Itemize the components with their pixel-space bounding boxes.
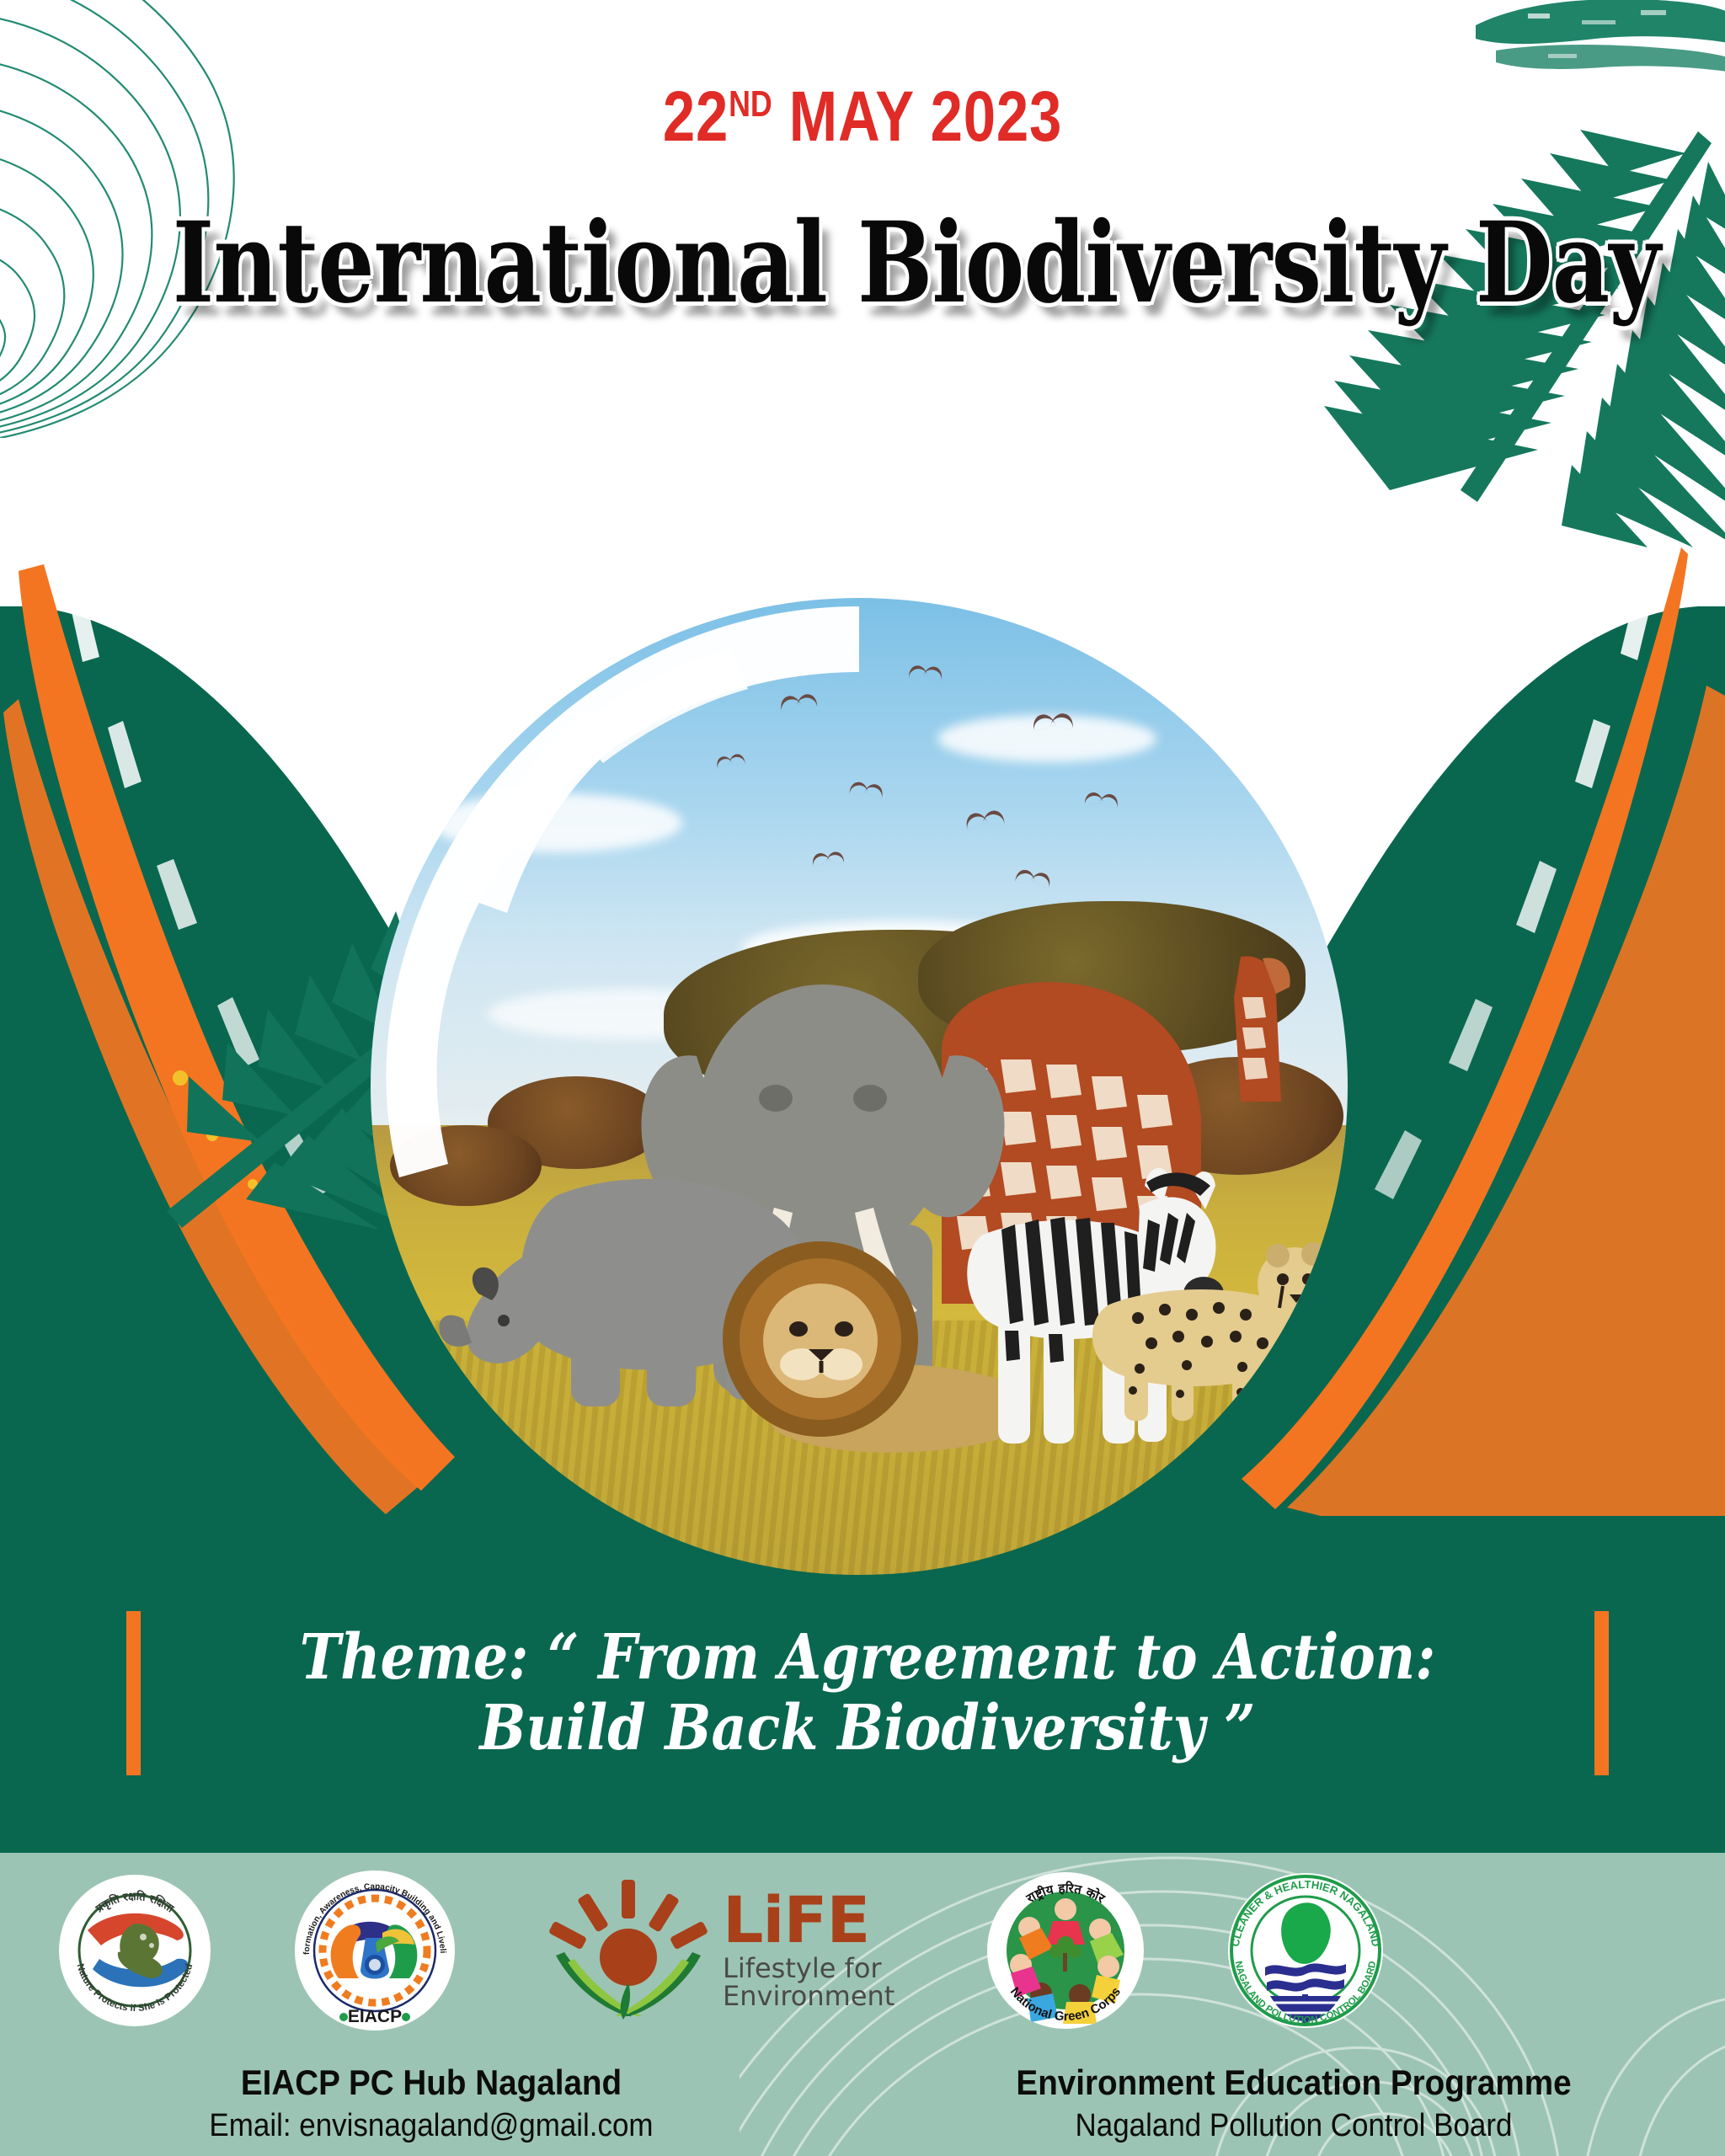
fern-leaf-decoration xyxy=(1312,109,1725,547)
date-month-year: MAY 2023 xyxy=(789,77,1062,156)
cheetah xyxy=(1084,1203,1348,1422)
life-emblem xyxy=(547,1875,708,2026)
page-title: International Biodiversity Day xyxy=(173,198,1552,328)
date-day: 22 xyxy=(663,77,729,156)
green-brush-stroke-decoration xyxy=(1447,0,1725,88)
eiacp-bottom-text: EIACP xyxy=(348,2007,402,2026)
life-sub-line-2: Environment xyxy=(723,1983,895,2011)
theme-banner: Theme: “ From Agreement to Action: Build… xyxy=(126,1596,1609,1790)
logo-moefcc: प्रकृति रक्षति रक्षिता Nature Protects i… xyxy=(59,1875,211,2026)
theme-line-2: Build Back Biodiversity ” xyxy=(228,1693,1508,1764)
footer-left-line-1: EIACP PC Hub Nagaland xyxy=(35,2063,828,2103)
footer-band: प्रकृति रक्षति रक्षिता Nature Protects i… xyxy=(0,1853,1725,2156)
logo-eiacp: Environmental Information, Awareness, Ca… xyxy=(295,1870,455,2031)
theme-text: Theme: “ From Agreement to Action: Build… xyxy=(228,1622,1508,1764)
wildlife-photo-image xyxy=(371,598,1348,1575)
date-ordinal: ND xyxy=(729,83,772,125)
logo-life: LiFE Lifestyle for Environment xyxy=(547,1875,895,2026)
logo-national-green-corps: राष्ट्रीय हरित कोर National Green Corps xyxy=(987,1872,1144,2029)
event-date: 22ND MAY 2023 xyxy=(155,76,1569,157)
theme-bar-left xyxy=(126,1611,141,1775)
life-wordmark: LiFE xyxy=(723,1890,895,1951)
footer-right-block: Environment Education Programme Nagaland… xyxy=(862,2063,1725,2144)
wildlife-photo xyxy=(371,598,1348,1575)
poster-canvas: 22ND MAY 2023 International Biodiversity… xyxy=(0,0,1725,2156)
bird-icon xyxy=(908,665,944,678)
footer-left-line-2: Email: envisnagaland@gmail.com xyxy=(35,2108,828,2144)
logo-npcb: CLEANER & HEALTHIER NAGALAND NAGALAND PO… xyxy=(1228,1873,1383,2028)
theme-line-1: Theme: “ From Agreement to Action: xyxy=(228,1622,1508,1693)
footer-right-line-2: Nagaland Pollution Control Board xyxy=(897,2108,1690,2144)
life-sub-line-1: Lifestyle for xyxy=(723,1955,895,1983)
footer-text-row: EIACP PC Hub Nagaland Email: envisnagala… xyxy=(0,2063,1725,2144)
partner-logos: प्रकृति रक्षति रक्षिता Nature Protects i… xyxy=(0,1866,1725,2035)
bird-icon xyxy=(1031,713,1074,728)
footer-right-line-1: Environment Education Programme xyxy=(897,2063,1690,2103)
footer-left-block: EIACP PC Hub Nagaland Email: envisnagala… xyxy=(0,2063,862,2144)
theme-bar-right xyxy=(1594,1611,1609,1775)
